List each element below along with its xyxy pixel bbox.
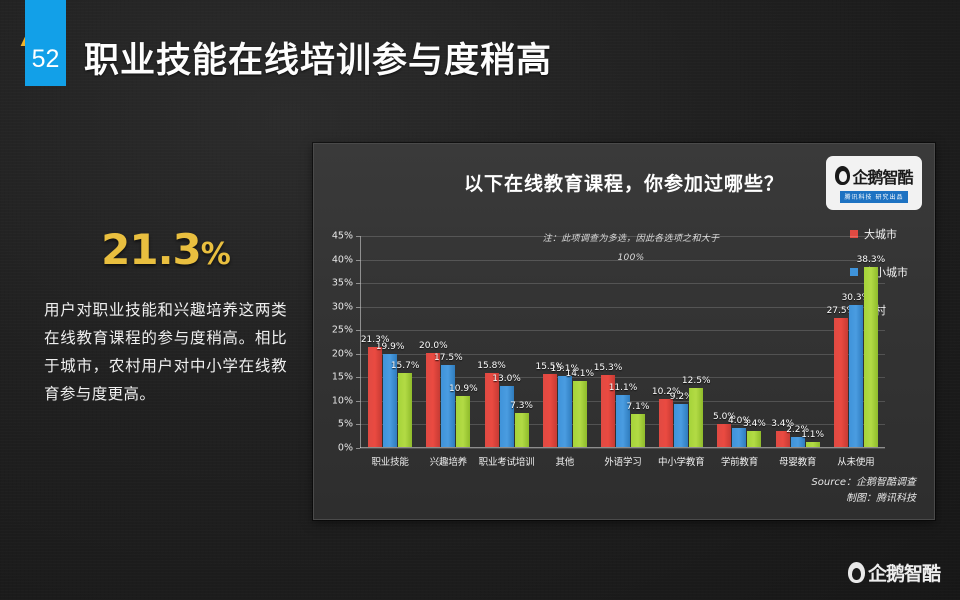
- y-tick-mark: [356, 236, 360, 237]
- bar: 9.2%: [674, 404, 688, 447]
- bar: 1.1%: [806, 442, 820, 447]
- y-tick-mark: [356, 260, 360, 261]
- bar-groups: 21.3%19.9%15.7%20.0%17.5%10.9%15.8%13.0%…: [361, 236, 885, 447]
- y-tick-label: 35%: [332, 278, 353, 289]
- chart-panel: 以下在线教育课程，你参加过哪些？ 企鹅智酷 腾讯科技 研究出品 注：此项调查为多…: [313, 143, 935, 520]
- bar-value-label: 11.1%: [609, 383, 638, 393]
- y-tick-label: 0%: [338, 443, 353, 454]
- bar-value-label: 7.3%: [510, 401, 533, 411]
- y-tick-mark: [356, 330, 360, 331]
- bar: 7.1%: [631, 414, 645, 447]
- slide-header: 52 职业技能在线培训参与度稍高: [0, 0, 960, 100]
- source-line-2: 制图：腾讯科技: [811, 491, 916, 507]
- y-tick-mark: [356, 401, 360, 402]
- x-axis-label: 母婴教育: [769, 454, 827, 468]
- x-axis-label: 兴趣培养: [419, 454, 477, 468]
- y-tick-mark: [356, 448, 360, 449]
- y-tick-label: 40%: [332, 254, 353, 265]
- bar: 10.2%: [659, 399, 673, 447]
- y-tick-mark: [356, 283, 360, 284]
- bar-group: 3.4%2.2%1.1%: [769, 236, 827, 447]
- left-summary-column: 21.3% 用户对职业技能和兴趣培养这两类在线教育课程的参与度稍高。相比于城市，…: [38, 225, 293, 408]
- footer-brand-logo: 企鹅智酷: [848, 559, 940, 586]
- bar: 30.3%: [849, 305, 863, 447]
- x-axis-label: 学前教育: [710, 454, 768, 468]
- penguin-icon: [835, 166, 850, 185]
- bar-group: 21.3%19.9%15.7%: [361, 236, 419, 447]
- bar-value-label: 15.3%: [594, 363, 623, 373]
- bar-group: 5.0%4.0%3.4%: [710, 236, 768, 447]
- slide-root: 52 职业技能在线培训参与度稍高 21.3% 用户对职业技能和兴趣培养这两类在线…: [0, 0, 960, 600]
- brand-logo-badge: 企鹅智酷 腾讯科技 研究出品: [826, 156, 922, 210]
- bar-value-label: 7.1%: [627, 402, 650, 412]
- bar-value-label: 1.1%: [801, 430, 824, 440]
- penguin-icon: [848, 562, 865, 583]
- x-axis-label: 职业考试培训: [477, 454, 535, 468]
- bar: 13.0%: [500, 386, 514, 447]
- x-axis-label: 从未使用: [827, 454, 885, 468]
- x-axis-label: 职业技能: [361, 454, 419, 468]
- bar: 7.3%: [515, 413, 529, 447]
- source-line-1: Source：企鹅智酷调查: [811, 475, 916, 491]
- bar-value-label: 10.9%: [449, 384, 478, 394]
- bar-value-label: 17.5%: [434, 353, 463, 363]
- bar-group: 15.3%11.1%7.1%: [594, 236, 652, 447]
- x-axis-label: 中小学教育: [652, 454, 710, 468]
- bar: 14.1%: [573, 381, 587, 447]
- bar-value-label: 15.8%: [477, 361, 506, 371]
- bar-value-label: 3.4%: [743, 419, 766, 429]
- bar-value-label: 19.9%: [376, 342, 405, 352]
- x-axis-labels: 职业技能兴趣培养职业考试培训其他外语学习中小学教育学前教育母婴教育从未使用: [361, 454, 885, 468]
- y-tick-mark: [356, 377, 360, 378]
- slide-number-badge: 52: [25, 0, 66, 86]
- bar: 10.9%: [456, 396, 470, 447]
- bar: 17.5%: [441, 365, 455, 447]
- y-tick-label: 5%: [338, 419, 353, 430]
- bar: 3.4%: [747, 431, 761, 447]
- bar: 15.7%: [398, 373, 412, 447]
- bar: 5.0%: [717, 424, 731, 447]
- y-tick-label: 45%: [332, 231, 353, 242]
- bar-value-label: 13.0%: [492, 374, 521, 384]
- bar-group: 27.5%30.3%38.3%: [827, 236, 885, 447]
- bar-value-label: 14.1%: [565, 369, 594, 379]
- y-tick-label: 30%: [332, 301, 353, 312]
- bar: 15.5%: [543, 374, 557, 447]
- bar: 21.3%: [368, 347, 382, 447]
- highlight-stat-unit: %: [201, 237, 230, 272]
- bar: 12.5%: [689, 388, 703, 447]
- slide-number: 52: [25, 45, 66, 74]
- y-tick-label: 15%: [332, 372, 353, 383]
- y-tick-mark: [356, 307, 360, 308]
- brand-logo-text: 企鹅智酷: [852, 164, 912, 188]
- bar-group: 15.5%15.1%14.1%: [536, 236, 594, 447]
- bar-value-label: 12.5%: [682, 376, 711, 386]
- y-tick-label: 10%: [332, 395, 353, 406]
- bar-value-label: 20.0%: [419, 341, 448, 351]
- chart-plot-area: 0%5%10%15%20%25%30%35%40%45% 21.3%19.9%1…: [360, 236, 885, 448]
- bar: 27.5%: [834, 318, 848, 447]
- bar: 15.1%: [558, 376, 572, 447]
- summary-paragraph: 用户对职业技能和兴趣培养这两类在线教育课程的参与度稍高。相比于城市，农村用户对中…: [38, 296, 293, 408]
- footer-brand-text: 企鹅智酷: [868, 559, 940, 586]
- y-tick-label: 25%: [332, 325, 353, 336]
- bar-value-label: 15.7%: [391, 361, 420, 371]
- highlight-stat-value: 21.3: [101, 225, 201, 274]
- bar: 4.0%: [732, 428, 746, 447]
- bar-group: 20.0%17.5%10.9%: [419, 236, 477, 447]
- chart-source: Source：企鹅智酷调查 制图：腾讯科技: [811, 475, 916, 507]
- bar-group: 15.8%13.0%7.3%: [477, 236, 535, 447]
- y-tick-label: 20%: [332, 348, 353, 359]
- brand-logo-subtitle: 腾讯科技 研究出品: [840, 191, 909, 203]
- y-tick-mark: [356, 424, 360, 425]
- bar-value-label: 38.3%: [857, 255, 886, 265]
- x-axis-label: 外语学习: [594, 454, 652, 468]
- highlight-stat: 21.3%: [38, 225, 293, 274]
- page-title: 职业技能在线培训参与度稍高: [84, 32, 552, 83]
- bar: 20.0%: [426, 353, 440, 447]
- y-tick-mark: [356, 354, 360, 355]
- bar-group: 10.2%9.2%12.5%: [652, 236, 710, 447]
- bar: 38.3%: [864, 267, 878, 447]
- x-axis-label: 其他: [536, 454, 594, 468]
- gridline: [360, 448, 885, 449]
